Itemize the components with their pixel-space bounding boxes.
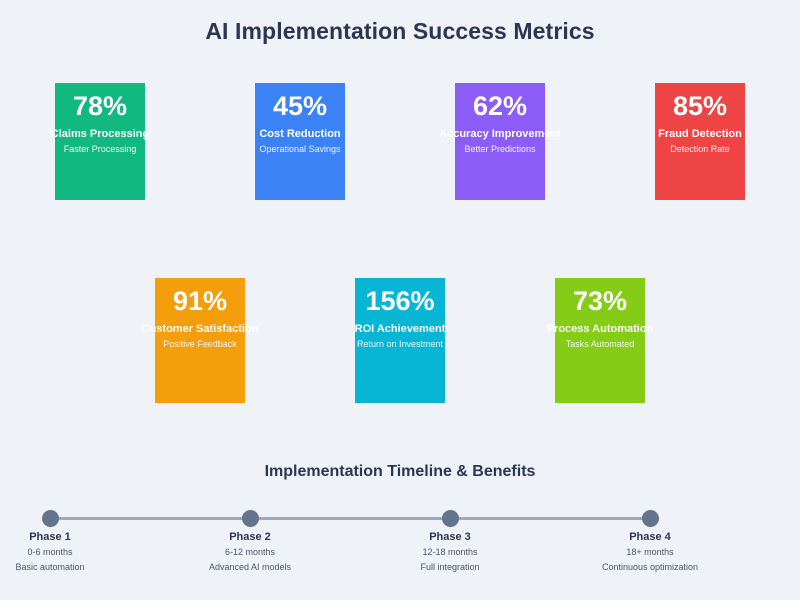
timeline-phase-duration: 6-12 months — [150, 547, 350, 558]
timeline-phase-duration: 12-18 months — [350, 547, 550, 558]
timeline-phase-name: Phase 4 — [550, 531, 750, 544]
timeline-section-title: Implementation Timeline & Benefits — [0, 463, 800, 481]
timeline-dot-icon — [242, 510, 259, 527]
metric-label: Fraud Detection — [575, 128, 800, 141]
timeline-phase-description: Basic automation — [0, 562, 150, 573]
timeline-dot-icon — [642, 510, 659, 527]
timeline-phase-description: Advanced AI models — [150, 562, 350, 573]
timeline-dot-icon — [442, 510, 459, 527]
metric-label: Process Automation — [475, 323, 725, 336]
metric-card-accuracy-improvement[interactable]: 62% Accuracy Improvement Better Predicti… — [455, 83, 545, 200]
timeline-phase-name: Phase 1 — [0, 531, 150, 544]
timeline-phase-duration: 18+ months — [550, 547, 750, 558]
timeline-track — [50, 517, 650, 520]
metric-card-claims-processing[interactable]: 78% Claims Processing Faster Processing — [55, 83, 145, 200]
timeline-dot-icon — [42, 510, 59, 527]
metric-card-roi-achievement[interactable]: 156% ROI Achievement Return on Investmen… — [355, 278, 445, 403]
timeline-phase-name: Phase 2 — [150, 531, 350, 544]
timeline-phase-name: Phase 3 — [350, 531, 550, 544]
page-title: AI Implementation Success Metrics — [0, 18, 800, 45]
metric-card-customer-satisfaction[interactable]: 91% Customer Satisfaction Positive Feedb… — [155, 278, 245, 403]
timeline-phase-duration: 0-6 months — [0, 547, 150, 558]
timeline-phase-description: Continuous optimization — [550, 562, 750, 573]
metric-card-fraud-detection[interactable]: 85% Fraud Detection Detection Rate — [655, 83, 745, 200]
metric-value: 85% — [575, 91, 800, 121]
metric-value: 73% — [475, 286, 725, 316]
metric-sublabel: Tasks Automated — [475, 339, 725, 350]
metric-card-process-automation[interactable]: 73% Process Automation Tasks Automated — [555, 278, 645, 403]
metric-card-cost-reduction[interactable]: 45% Cost Reduction Operational Savings — [255, 83, 345, 200]
timeline-phase-description: Full integration — [350, 562, 550, 573]
metric-sublabel: Detection Rate — [575, 144, 800, 155]
